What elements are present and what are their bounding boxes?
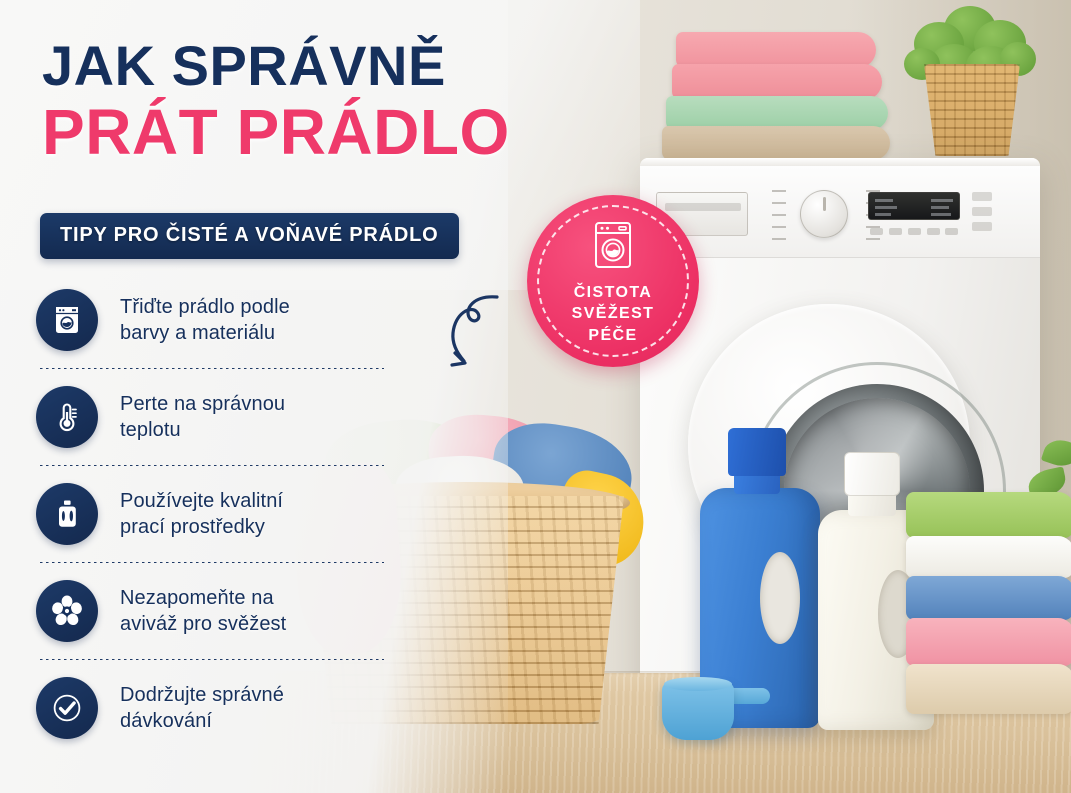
tip-line-2: aviváž pro svěžest bbox=[120, 611, 286, 637]
towel-pink bbox=[906, 618, 1071, 666]
subtitle-bar: TIPY PRO ČISTÉ A VOŇAVÉ PRÁDLO bbox=[40, 213, 459, 259]
badge-dashed-ring bbox=[537, 205, 689, 357]
tip-line-2: prací prostředky bbox=[120, 514, 283, 540]
bottle-cap-white bbox=[844, 452, 900, 496]
washing-machine-icon bbox=[36, 289, 98, 351]
potted-plant bbox=[900, 2, 1040, 160]
towel-mint-green bbox=[666, 96, 888, 130]
towel-blue bbox=[906, 576, 1071, 620]
title-line-1: JAK SPRÁVNĚ bbox=[42, 38, 562, 94]
tip-line-1: Nezapomeňte na bbox=[120, 585, 286, 611]
tip-line-1: Používejte kvalitní bbox=[120, 488, 283, 514]
bottle-cap-blue bbox=[728, 428, 786, 476]
towel-pink bbox=[672, 64, 882, 100]
program-dial[interactable] bbox=[800, 190, 848, 238]
tip-text: Třiďte prádlo podle barvy a materiálu bbox=[120, 294, 290, 347]
page-title: JAK SPRÁVNĚ PRÁT PRÁDLO bbox=[42, 38, 562, 164]
tip-item: Perte na správnou teplotu bbox=[36, 369, 402, 465]
right-towel-stack bbox=[906, 492, 1071, 724]
check-circle-icon bbox=[36, 677, 98, 739]
quality-badge: ČISTOTA SVĚŽEST PÉČE bbox=[527, 195, 699, 367]
detergent-bottle-icon bbox=[36, 483, 98, 545]
tip-item: Používejte kvalitní prací prostředky bbox=[36, 466, 402, 562]
tip-line-2: barvy a materiálu bbox=[120, 320, 290, 346]
towel-green bbox=[906, 492, 1071, 538]
tip-line-1: Perte na správnou bbox=[120, 391, 285, 417]
tip-text: Dodržujte správné dávkování bbox=[120, 682, 284, 735]
towel-pink bbox=[676, 32, 876, 68]
subtitle-text: TIPY PRO ČISTÉ A VOŇAVÉ PRÁDLO bbox=[60, 224, 439, 246]
indicator-leds bbox=[972, 190, 1000, 242]
tip-line-2: teplotu bbox=[120, 417, 285, 443]
towel-beige bbox=[662, 126, 890, 160]
curved-arrow-icon bbox=[435, 285, 535, 385]
towel-white bbox=[906, 536, 1071, 578]
thermometer-icon bbox=[36, 386, 98, 448]
tip-item: Dodržujte správné dávkování bbox=[36, 660, 402, 756]
tip-text: Perte na správnou teplotu bbox=[120, 391, 285, 444]
panel-buttons[interactable] bbox=[868, 228, 960, 238]
top-towel-stack bbox=[676, 18, 896, 154]
tip-item: Nezapomeňte na aviváž pro svěžest bbox=[36, 563, 402, 659]
towel-cream bbox=[906, 664, 1071, 714]
tip-item: Třiďte prádlo podle barvy a materiálu bbox=[36, 272, 402, 368]
measuring-scoop bbox=[662, 676, 770, 740]
laundry-infographic-poster: JAK SPRÁVNĚ PRÁT PRÁDLO TIPY PRO ČISTÉ A… bbox=[0, 0, 1071, 793]
tips-list: Třiďte prádlo podle barvy a materiálu Pe… bbox=[36, 272, 402, 756]
tip-line-1: Třiďte prádlo podle bbox=[120, 294, 290, 320]
display-screen bbox=[868, 192, 960, 220]
tip-text: Nezapomeňte na aviváž pro svěžest bbox=[120, 585, 286, 638]
tip-line-1: Dodržujte správné bbox=[120, 682, 284, 708]
tip-text: Používejte kvalitní prací prostředky bbox=[120, 488, 283, 541]
tip-line-2: dávkování bbox=[120, 708, 284, 734]
title-line-2: PRÁT PRÁDLO bbox=[42, 100, 562, 164]
flower-icon bbox=[36, 580, 98, 642]
control-panel bbox=[640, 166, 1040, 258]
wicker-pot bbox=[924, 64, 1020, 156]
